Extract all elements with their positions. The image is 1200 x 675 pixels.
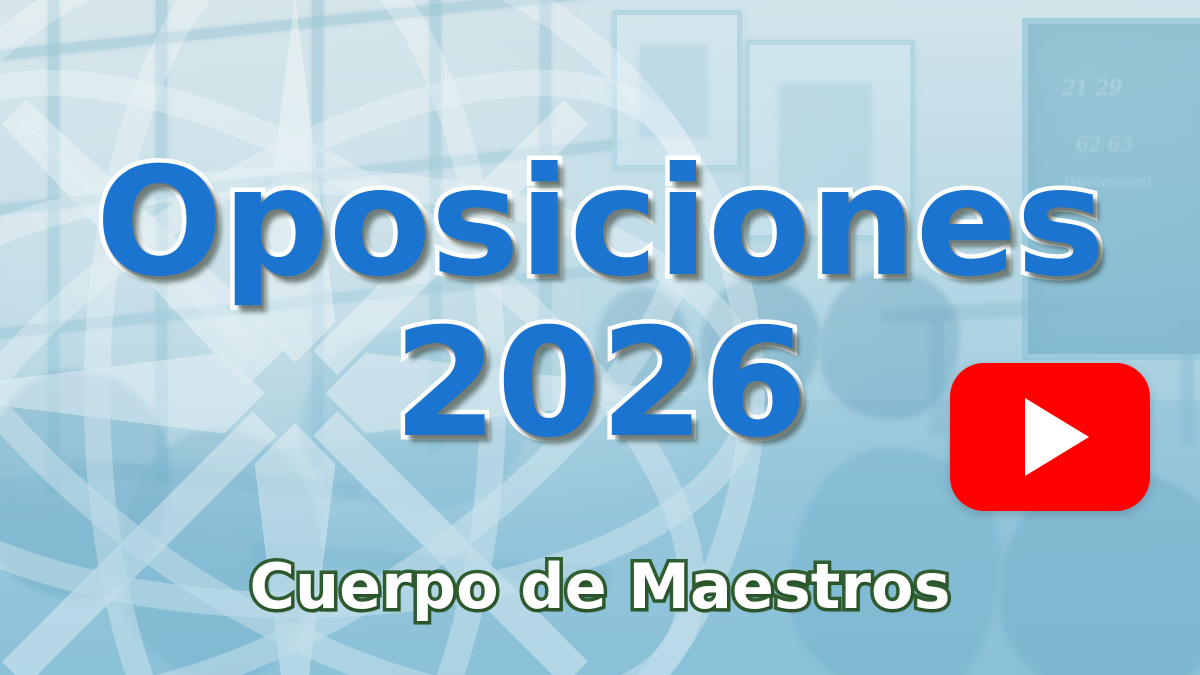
youtube-play-button[interactable]: [950, 363, 1150, 511]
video-thumbnail: 21 29 62 63 (succession): [0, 0, 1200, 675]
play-triangle-icon: [1025, 398, 1089, 476]
classroom-background-photo: 21 29 62 63 (succession): [0, 0, 1200, 675]
photo-highlight-overlay: [0, 0, 1200, 675]
